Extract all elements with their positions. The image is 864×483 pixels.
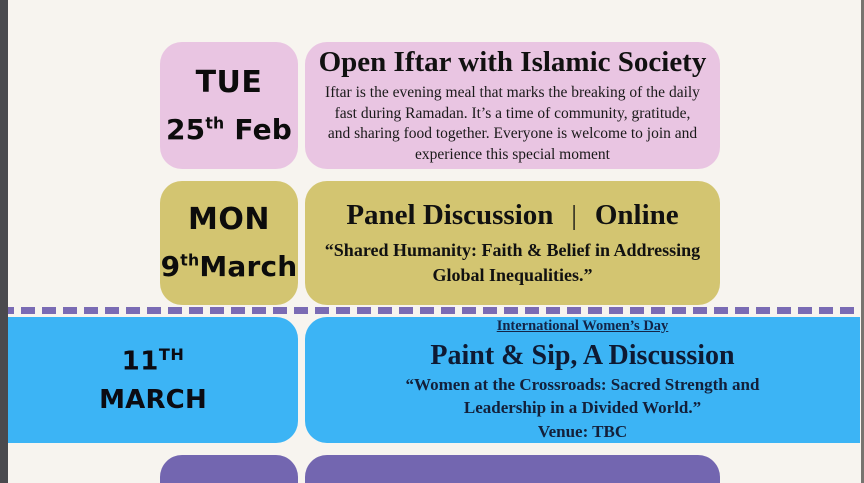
event-subtitle: “Shared Humanity: Faith & Belief in Addr… <box>317 238 708 286</box>
event-title: Panel Discussion <box>346 199 553 232</box>
event-date-line: 9thMarch <box>161 252 298 283</box>
event-description: Iftar is the evening meal that marks the… <box>324 83 702 165</box>
event-date-line: 25th Feb <box>166 115 292 146</box>
event-date-month: March <box>199 250 297 283</box>
event-date-number: 11 <box>122 346 159 376</box>
event-row-paint-and-sip[interactable]: 11TH MARCH International Women’s Day Pai… <box>8 317 860 443</box>
event-row-open-iftar[interactable]: TUE 25th Feb Open Iftar with Islamic Soc… <box>160 42 720 169</box>
event-date-card-paint-and-sip: 11TH MARCH <box>8 317 298 443</box>
event-date-month: Feb <box>234 113 292 146</box>
event-detail-card-open-iftar: Open Iftar with Islamic Society Iftar is… <box>305 42 720 169</box>
event-detail-card-paint-and-sip: International Women’s Day Paint & Sip, A… <box>305 317 860 443</box>
event-detail-card-panel-discussion: Panel Discussion | Online “Shared Humani… <box>305 181 720 305</box>
event-title: Open Iftar with Islamic Society <box>319 46 707 78</box>
event-date-number: 9 <box>161 250 181 283</box>
event-title-row: Panel Discussion | Online <box>346 199 678 232</box>
event-date-ordinal: th <box>180 251 199 270</box>
event-detail-card-next <box>305 455 720 483</box>
event-date-month: MARCH <box>99 386 207 415</box>
event-format-label: Online <box>595 199 679 232</box>
event-date-card-open-iftar: TUE 25th Feb <box>160 42 298 169</box>
left-edge-strip <box>0 0 8 483</box>
event-subtitle: “Women at the Crossroads: Sacred Strengt… <box>378 374 788 420</box>
event-date-ordinal: th <box>205 113 224 132</box>
event-row-panel-discussion[interactable]: MON 9thMarch Panel Discussion | Online “… <box>160 181 720 305</box>
event-venue: Venue: TBC <box>538 422 627 442</box>
event-date-card-panel-discussion: MON 9thMarch <box>160 181 298 305</box>
event-schedule-page: TUE 25th Feb Open Iftar with Islamic Soc… <box>0 0 864 483</box>
title-separator: | <box>571 200 576 231</box>
event-date-line: 11TH <box>122 346 185 376</box>
section-dashed-divider <box>0 307 864 314</box>
event-date-ordinal: TH <box>159 345 184 364</box>
event-day-name: TUE <box>196 66 263 99</box>
event-date-card-next <box>160 455 298 483</box>
event-day-name: MON <box>188 203 270 236</box>
event-date-number: 25 <box>166 113 205 146</box>
event-title: Paint & Sip, A Discussion <box>430 340 734 371</box>
event-row-next-partial[interactable] <box>160 455 720 483</box>
event-eyebrow-label: International Women’s Day <box>497 318 669 335</box>
